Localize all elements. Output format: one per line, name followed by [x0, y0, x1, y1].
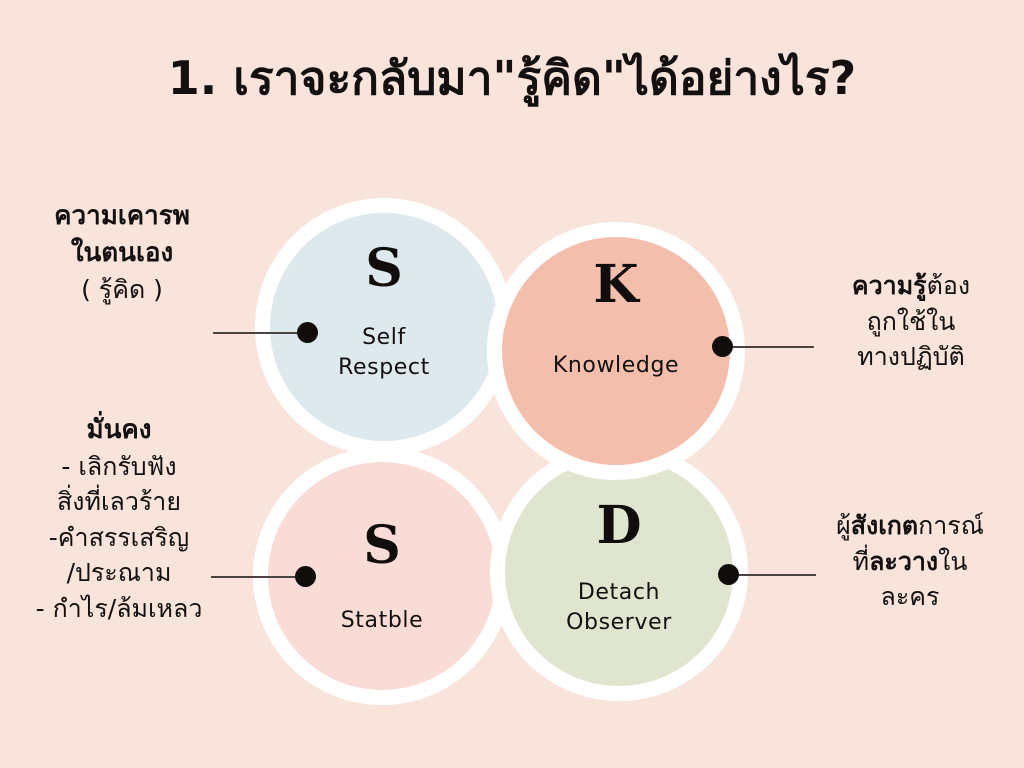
circle-detach-observer-caption: Detach Observer — [566, 578, 672, 639]
note-knowledge-line-3: ทางปฏิบัติ — [806, 339, 1016, 375]
note-knowledge-line-1-rest: ต้อง — [927, 271, 970, 300]
note-stable-head-1: มั่นคง — [0, 412, 238, 449]
note-detach-observer-line-2-post: ใน — [938, 547, 967, 576]
circle-detach-observer-letter: D — [596, 500, 641, 552]
note-knowledge-line-1-bold: ความรู้ — [852, 271, 927, 300]
connector-dot-knowledge[interactable] — [712, 336, 733, 357]
circle-knowledge-caption: Knowledge — [553, 351, 679, 381]
note-detach-observer-line-1-pre: ผู้ — [836, 511, 851, 540]
note-self-respect-head-2: ในตนเอง — [12, 235, 232, 272]
note-knowledge-line-1: ความรู้ต้อง — [806, 268, 1016, 304]
circle-statble-caption-line1: Statble — [341, 606, 424, 636]
circle-detach-observer-caption-line1: Detach — [566, 578, 672, 608]
note-detach-observer-line-1: ผู้สังเกตการณ์ — [796, 508, 1024, 544]
circle-self-respect[interactable]: S Self Respect — [255, 198, 513, 456]
note-stable-sub-5: - กำไร/ล้มเหลว — [0, 591, 238, 627]
connector-dot-self-respect[interactable] — [297, 322, 318, 343]
connector-dot-statble[interactable] — [295, 566, 316, 587]
note-detach-observer: ผู้สังเกตการณ์ ที่ละวางใน ละคร — [796, 508, 1024, 615]
circle-detach-observer[interactable]: D Detach Observer — [490, 443, 748, 701]
circle-self-respect-letter: S — [365, 243, 403, 295]
note-stable: มั่นคง - เลิกรับฟัง สิ่งที่เลวร้าย -คำสร… — [0, 412, 238, 626]
note-stable-sub-4: /ประณาม — [0, 555, 238, 591]
note-stable-sub-1: - เลิกรับฟัง — [0, 449, 238, 485]
note-self-respect-sub-1: ( รู้คิด ) — [12, 272, 232, 308]
note-detach-observer-line-3: ละคร — [796, 579, 1024, 615]
connector-dot-detach-observer[interactable] — [718, 564, 739, 585]
circle-statble-caption: Statble — [341, 606, 424, 636]
venn-diagram: S Statble D Detach Observer S Self Respe… — [0, 0, 1024, 768]
leader-line-self-respect — [213, 332, 305, 334]
circle-self-respect-caption-line1: Self — [338, 323, 430, 353]
note-stable-sub-2: สิ่งที่เลวร้าย — [0, 484, 238, 520]
circle-statble-letter: S — [363, 520, 401, 572]
circle-self-respect-caption-line2: Respect — [338, 353, 430, 383]
leader-line-knowledge — [722, 346, 814, 348]
note-detach-observer-line-2: ที่ละวางใน — [796, 544, 1024, 580]
note-knowledge-line-2: ถูกใช้ใน — [806, 304, 1016, 340]
note-self-respect-head-1: ความเคารพ — [12, 198, 232, 235]
circle-detach-observer-caption-line2: Observer — [566, 608, 672, 638]
note-self-respect: ความเคารพ ในตนเอง ( รู้คิด ) — [12, 198, 232, 307]
note-knowledge: ความรู้ต้อง ถูกใช้ใน ทางปฏิบัติ — [806, 268, 1016, 375]
circle-knowledge-letter: K — [593, 259, 638, 311]
note-detach-observer-line-2-bold: ละวาง — [869, 547, 938, 576]
note-detach-observer-line-1-bold: สังเกต — [851, 511, 918, 540]
circle-knowledge-caption-line1: Knowledge — [553, 351, 679, 381]
circle-self-respect-caption: Self Respect — [338, 323, 430, 384]
circle-knowledge[interactable]: K Knowledge — [487, 222, 745, 480]
note-detach-observer-line-1-post: การณ์ — [918, 511, 984, 540]
note-detach-observer-line-2-pre: ที่ — [853, 547, 869, 576]
note-stable-sub-3: -คำสรรเสริญ — [0, 520, 238, 556]
